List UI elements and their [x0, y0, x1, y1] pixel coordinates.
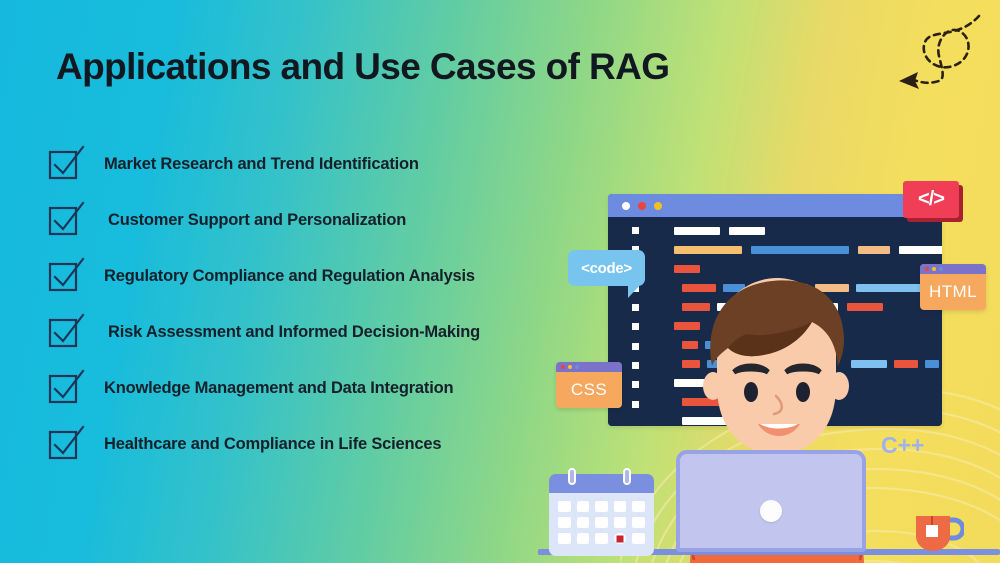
list-item[interactable]: Regulatory Compliance and Regulation Ana… [48, 248, 588, 304]
checkbox-checked-icon[interactable] [48, 428, 82, 460]
list-item-label: Knowledge Management and Data Integratio… [104, 379, 453, 398]
html-badge: HTML [920, 264, 986, 310]
list-item-label: Regulatory Compliance and Regulation Ana… [104, 267, 475, 286]
list-item[interactable]: Knowledge Management and Data Integratio… [48, 360, 588, 416]
checkbox-checked-icon[interactable] [48, 204, 82, 236]
list-item-label: Market Research and Trend Identification [104, 155, 419, 174]
editor-title-bar [608, 194, 942, 217]
calendar-header [549, 474, 654, 493]
person-eye-left [744, 382, 758, 402]
calendar-ring-icon [568, 468, 576, 485]
curl-arrow-icon [895, 6, 995, 92]
person-eye-right [796, 382, 810, 402]
list-item-label: Risk Assessment and Informed Decision-Ma… [108, 323, 480, 342]
checkbox-checked-icon[interactable] [48, 316, 82, 348]
css-badge: CSS [556, 362, 622, 408]
checklist: Market Research and Trend Identification… [48, 136, 588, 472]
html-badge-label: HTML [920, 274, 986, 310]
list-item[interactable]: Healthcare and Compliance in Life Scienc… [48, 416, 588, 472]
window-dot-yellow-icon [654, 202, 662, 210]
html-badge-bar [920, 264, 986, 274]
checkbox-checked-icon[interactable] [48, 372, 82, 404]
list-item[interactable]: Risk Assessment and Informed Decision-Ma… [48, 304, 588, 360]
checkbox-checked-icon[interactable] [48, 148, 82, 180]
coffee-mug [912, 508, 964, 552]
slide-canvas: Applications and Use Cases of RAG Market… [0, 0, 1000, 563]
list-item[interactable]: Market Research and Trend Identification [48, 136, 588, 192]
list-item-label: Customer Support and Personalization [108, 211, 406, 230]
code-tag-badge: </> [903, 181, 959, 218]
calendar-grid [549, 493, 654, 556]
calendar-ring-icon [623, 468, 631, 485]
cpp-label: C++ [881, 432, 924, 459]
calendar [549, 474, 654, 556]
page-title: Applications and Use Cases of RAG [56, 46, 669, 88]
css-badge-label: CSS [556, 372, 622, 408]
calendar-highlighted-date [614, 533, 627, 544]
list-item-label: Healthcare and Compliance in Life Scienc… [104, 435, 441, 454]
laptop-logo-icon [760, 500, 782, 522]
window-dot-white-icon [622, 202, 630, 210]
window-dot-red-icon [638, 202, 646, 210]
css-badge-bar [556, 362, 622, 372]
code-speech-bubble: <code> [568, 250, 645, 286]
tea-tag-icon [926, 525, 938, 537]
list-item[interactable]: Customer Support and Personalization [48, 192, 588, 248]
checkbox-checked-icon[interactable] [48, 260, 82, 292]
laptop [676, 450, 866, 552]
